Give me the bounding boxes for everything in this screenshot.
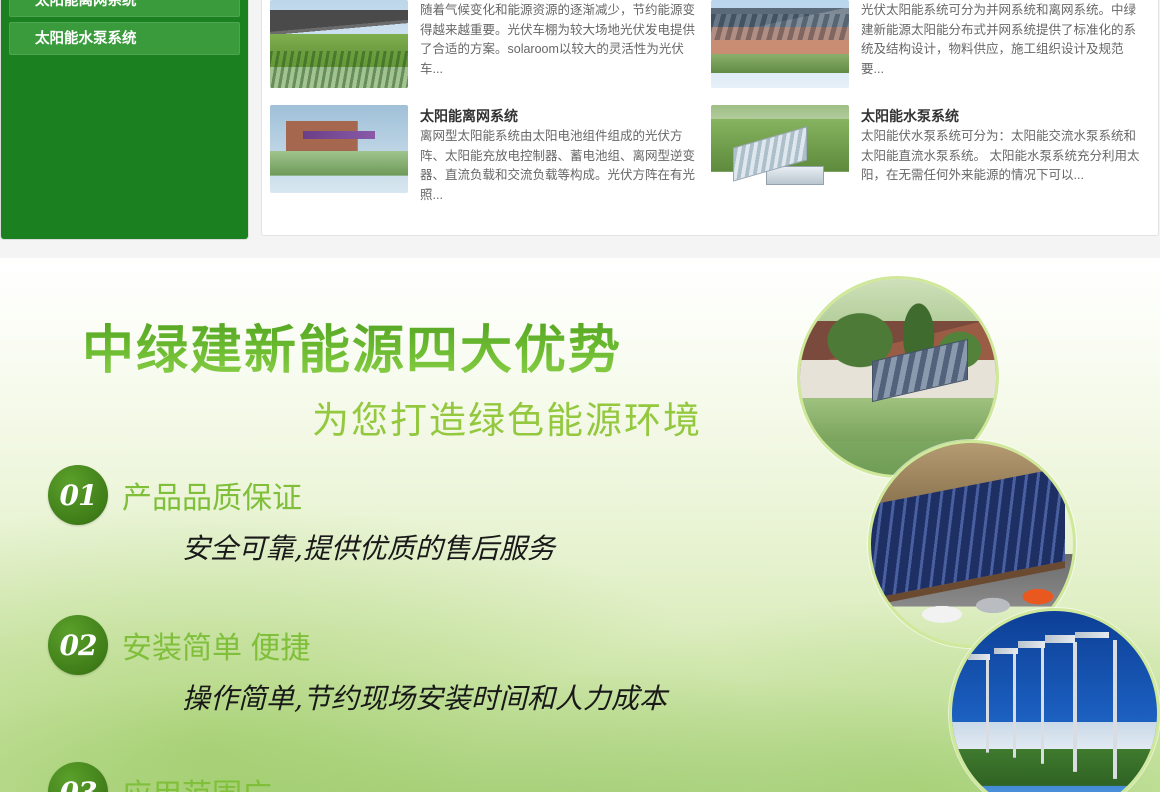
- product-description: 光伏太阳能系统可分为并网系统和离网系统。中绿建新能源太阳能分布式并网系统提供了标…: [861, 1, 1142, 79]
- solar-street-lights-photo: [949, 608, 1160, 792]
- pump-tank-shape: [766, 166, 824, 185]
- light-heads-art: [952, 632, 1157, 714]
- product-description: 离网型太阳能系统由太阳电池组件组成的光伏方阵、太阳能充放电控制器、蓄电池组、离网…: [420, 127, 701, 205]
- advantage-title: 产品品质保证: [122, 473, 302, 517]
- product-card-body: 随着气候变化和能源资源的逐渐减少，节约能源变得越来越重要。光伏车棚为较大场地光伏…: [420, 0, 701, 105]
- product-card-body: 太阳能离网系统 离网型太阳能系统由太阳电池组件组成的光伏方阵、太阳能充放电控制器…: [420, 105, 701, 210]
- banner-title: 中绿建新能源四大优势: [82, 308, 622, 383]
- product-card[interactable]: 太阳能水泵系统 太阳能伏水泵系统可分为：太阳能交流水泵系统和太阳能直流水泵系统。…: [711, 105, 1152, 210]
- product-card-body: 太阳能水泵系统 太阳能伏水泵系统可分为：太阳能交流水泵系统和太阳能直流水泵系统。…: [861, 105, 1142, 210]
- product-title[interactable]: 太阳能离网系统: [420, 106, 701, 126]
- advantage-title: 安装简单 便捷: [122, 623, 310, 667]
- advantage-title: 应用范围广: [122, 770, 272, 792]
- product-description: 随着气候变化和能源资源的逐渐减少，节约能源变得越来越重要。光伏车棚为较大场地光伏…: [420, 1, 701, 79]
- category-sidebar: 太阳能并网系统 太阳能离网系统 太阳能水泵系统: [0, 0, 249, 240]
- advantage-number-badge: 02: [48, 615, 108, 675]
- product-card-body: 光伏太阳能系统可分为并网系统和离网系统。中绿建新能源太阳能分布式并网系统提供了标…: [861, 0, 1142, 105]
- advantage-subtitle: 操作简单,节约现场安装时间和人力成本: [182, 677, 667, 717]
- trees-art: [812, 291, 984, 373]
- rooftop-photo-thumbnail[interactable]: [711, 0, 849, 88]
- page-root: 太阳能并网系统 太阳能离网系统 太阳能水泵系统 随着气候变化和能源资源的逐渐减少…: [0, 0, 1160, 792]
- product-description: 太阳能伏水泵系统可分为：太阳能交流水泵系统和太阳能直流水泵系统。 太阳能水泵系统…: [861, 127, 1142, 186]
- street-lights-art: [952, 611, 1157, 792]
- product-card[interactable]: 随着气候变化和能源资源的逐渐减少，节约能源变得越来越重要。光伏车棚为较大场地光伏…: [270, 0, 711, 105]
- advantage-subtitle: 安全可靠,提供优质的售后服务: [182, 527, 555, 567]
- sidebar-item-off-grid[interactable]: 太阳能离网系统: [9, 0, 240, 17]
- products-section: 太阳能并网系统 太阳能离网系统 太阳能水泵系统 随着气候变化和能源资源的逐渐减少…: [0, 0, 1160, 258]
- product-card-grid: 随着气候变化和能源资源的逐渐减少，节约能源变得越来越重要。光伏车棚为较大场地光伏…: [270, 0, 1152, 210]
- advantage-number-badge: 01: [48, 465, 108, 525]
- product-card[interactable]: 太阳能离网系统 离网型太阳能系统由太阳电池组件组成的光伏方阵、太阳能充放电控制器…: [270, 105, 711, 210]
- product-card[interactable]: 光伏太阳能系统可分为并网系统和离网系统。中绿建新能源太阳能分布式并网系统提供了标…: [711, 0, 1152, 105]
- product-list-panel: 随着气候变化和能源资源的逐渐减少，节约能源变得越来越重要。光伏车棚为较大场地光伏…: [261, 0, 1159, 236]
- sidebar-item-water-pump[interactable]: 太阳能水泵系统: [9, 22, 240, 55]
- solar-pump-photo-thumbnail[interactable]: [711, 105, 849, 193]
- offgrid-house-photo-thumbnail[interactable]: [270, 105, 408, 193]
- product-title[interactable]: 太阳能水泵系统: [861, 106, 1142, 126]
- banner-subtitle: 为您打造绿色能源环境: [312, 390, 702, 444]
- carport-photo-thumbnail[interactable]: [270, 0, 408, 88]
